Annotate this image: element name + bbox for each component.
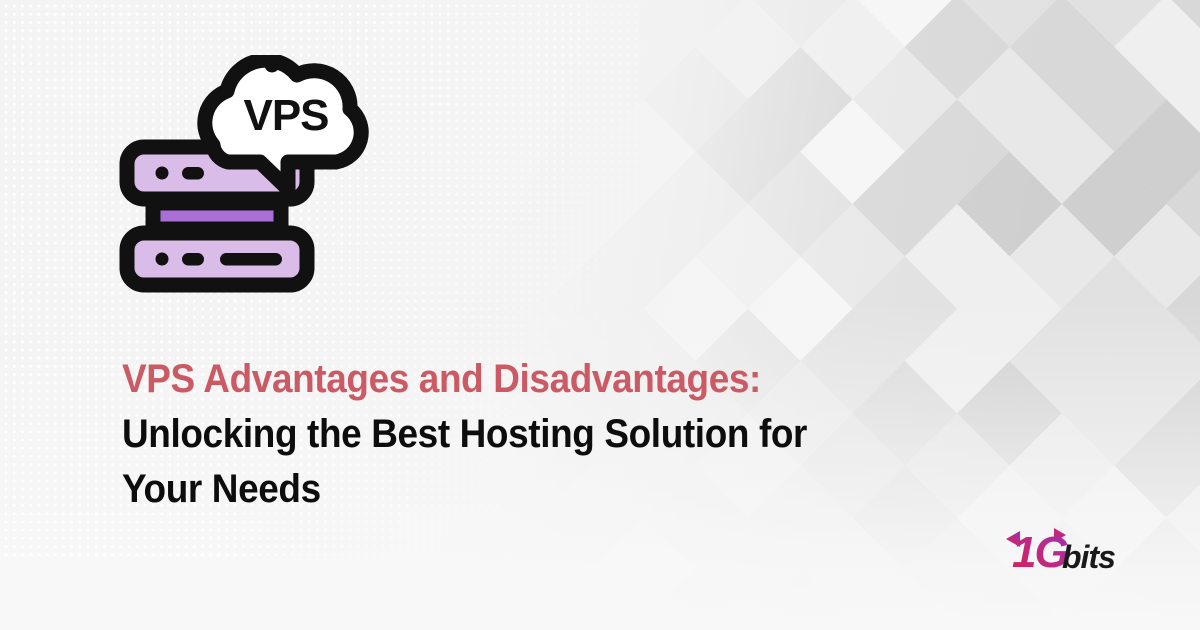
server-led-top-2 bbox=[182, 167, 204, 180]
cloud-label-vps: VPS bbox=[243, 91, 328, 140]
server-led-top-1 bbox=[156, 167, 169, 180]
server-band-middle bbox=[153, 203, 281, 229]
1gbits-logo[interactable]: 1G bits bbox=[1004, 521, 1130, 579]
server-led-bottom-3 bbox=[220, 253, 282, 266]
title-line-3: Your Needs bbox=[122, 462, 907, 517]
title-line-1: VPS Advantages and Disadvantages: bbox=[122, 352, 907, 407]
page-title: VPS Advantages and Disadvantages: Unlock… bbox=[122, 352, 962, 517]
logo-mark-1g: 1G bbox=[1012, 528, 1067, 577]
cloud-accent-dot bbox=[265, 58, 280, 73]
logo-word-bits: bits bbox=[1062, 539, 1115, 575]
server-led-bottom-1 bbox=[156, 253, 169, 266]
title-line-2: Unlocking the Best Hosting Solution for bbox=[122, 407, 907, 462]
banner-canvas: VPS VPS Advantages and Disadvantages: Un… bbox=[0, 0, 1200, 630]
vps-server-cloud-icon: VPS bbox=[118, 55, 398, 300]
server-led-bottom-2 bbox=[182, 253, 204, 266]
